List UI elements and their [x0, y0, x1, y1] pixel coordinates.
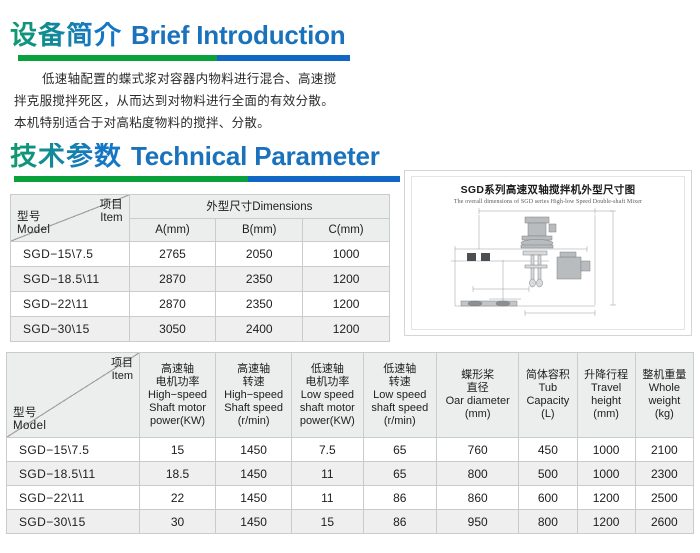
- cell-value-2: 1450: [216, 486, 292, 510]
- cell-value-4: 65: [363, 438, 437, 462]
- header-line-en1: Low speed: [294, 389, 360, 402]
- table-row: SGD−15\7.5276520501000: [11, 242, 390, 267]
- column-header-1: 高速轴电机功率High−speedShaft motorpower(KW): [140, 353, 216, 438]
- dimension-drawing-frame: SGD系列高速双轴搅拌机外型尺寸图 The overall dimensions…: [411, 176, 685, 330]
- column-header-8: 整机重量Wholeweight(kg): [635, 353, 693, 438]
- header-line-en1: Whole: [638, 382, 691, 395]
- divider-blue-segment: [217, 55, 350, 61]
- dimensions-table: 项目 Item 型号 Model 外型尺寸Dimensions A(mm) B(…: [10, 194, 390, 342]
- cell-value-1: 22: [140, 486, 216, 510]
- technical-parameters-table: 项目 Item 型号 Model 高速轴电机功率High−speedShaft …: [6, 352, 694, 534]
- cell-value-7: 1200: [577, 486, 635, 510]
- cell-value-8: 2500: [635, 486, 693, 510]
- header-line-cn2: 电机功率: [294, 376, 360, 389]
- dimensions-table-body: SGD−15\7.5276520501000SGD−18.5\112870235…: [11, 242, 390, 342]
- paragraph-line-3: 本机特别适合于对高粘度物料的搅拌、分散。: [14, 112, 344, 134]
- cell-model: SGD−22\11: [7, 486, 140, 510]
- cell-model: SGD−15\7.5: [7, 438, 140, 462]
- column-header-a: A(mm): [129, 218, 216, 242]
- parameters-table-body: SGD−15\7.51514507.56576045010002100SGD−1…: [7, 438, 694, 534]
- divider-green-segment: [18, 55, 217, 61]
- cell-a: 2870: [129, 292, 216, 317]
- corner-cell: 项目 Item 型号 Model: [7, 353, 140, 438]
- paragraph-line-1: 低速轴配置的蝶式浆对容器内物料进行混合、高速搅: [14, 68, 344, 90]
- cell-value-6: 500: [519, 462, 577, 486]
- column-header-2: 高速轴转速High−speedShaft speed(r/min): [216, 353, 292, 438]
- header-line-en3: (mm): [580, 408, 633, 421]
- header-line-cn2: 转速: [366, 376, 435, 389]
- cell-b: 2350: [216, 292, 303, 317]
- cell-value-5: 800: [437, 462, 519, 486]
- cell-value-4: 86: [363, 486, 437, 510]
- cell-value-8: 2100: [635, 438, 693, 462]
- header-line-en1: Travel: [580, 382, 633, 395]
- corner-item-label: 项目 Item: [100, 199, 123, 225]
- table-row: SGD−18.5\1118.51450116580050010002300: [7, 462, 694, 486]
- cell-model: SGD−30\15: [7, 510, 140, 534]
- cell-b: 2350: [216, 267, 303, 292]
- table-row: SGD−30\15305024001200: [11, 317, 390, 342]
- cell-value-5: 760: [437, 438, 519, 462]
- table-row: SGD−18.5\11287023501200: [11, 267, 390, 292]
- header-line-en1: Tub: [521, 382, 574, 395]
- cell-value-3: 7.5: [292, 438, 363, 462]
- corner-model-en: Model: [13, 420, 46, 432]
- cell-value-6: 800: [519, 510, 577, 534]
- table-row: SGD−15\7.51514507.56576045010002100: [7, 438, 694, 462]
- cell-value-6: 600: [519, 486, 577, 510]
- header-line-cn1: 简体容积: [521, 369, 574, 382]
- cell-value-3: 15: [292, 510, 363, 534]
- corner-model-cn: 型号: [17, 211, 41, 223]
- brief-introduction-paragraph: 低速轴配置的蝶式浆对容器内物料进行混合、高速搅 拌克服搅拌死区，从而达到对物料进…: [14, 68, 344, 134]
- header-line-en1: Low speed: [366, 389, 435, 402]
- corner-item-cn: 项目: [100, 199, 123, 211]
- header-line-cn1: 高速轴: [142, 363, 213, 376]
- header-line-en2: Shaft speed: [218, 402, 289, 415]
- column-header-6: 简体容积TubCapacity(L): [519, 353, 577, 438]
- column-header-c: C(mm): [303, 218, 390, 242]
- cell-value-4: 86: [363, 510, 437, 534]
- cell-model: SGD−18.5\11: [7, 462, 140, 486]
- technical-parameter-heading: 技术参数 Technical Parameter: [10, 143, 380, 170]
- header-line-en3: (r/min): [218, 415, 289, 428]
- cell-value-1: 18.5: [140, 462, 216, 486]
- table-row: SGD−22\11287023501200: [11, 292, 390, 317]
- cell-value-5: 950: [437, 510, 519, 534]
- cell-value-7: 1200: [577, 510, 635, 534]
- dimensions-table-head: 项目 Item 型号 Model 外型尺寸Dimensions A(mm) B(…: [11, 195, 390, 242]
- header-line-en3: power(KW): [142, 415, 213, 428]
- corner-model-label: 型号 Model: [13, 407, 46, 433]
- header-line-en2: shaft motor: [294, 402, 360, 415]
- header-line-cn1: 整机重量: [638, 369, 691, 382]
- header-line-cn2: 转速: [218, 376, 289, 389]
- cell-value-3: 11: [292, 486, 363, 510]
- product-spec-page: 设备简介 Brief Introduction 低速轴配置的蝶式浆对容器内物料进…: [0, 0, 700, 553]
- table-header-row: 项目 Item 型号 Model 高速轴电机功率High−speedShaft …: [7, 353, 694, 438]
- cell-c: 1200: [303, 292, 390, 317]
- corner-item-cn: 项目: [111, 357, 133, 369]
- brief-introduction-heading: 设备简介 Brief Introduction: [10, 22, 346, 49]
- table-row: SGD−22\11221450118686060012002500: [7, 486, 694, 510]
- header-line-cn1: 低速轴: [294, 363, 360, 376]
- cell-b: 2050: [216, 242, 303, 267]
- header-line-cn2: 直径: [439, 382, 516, 395]
- header-line-en3: (kg): [638, 408, 691, 421]
- technical-heading-en: Technical Parameter: [131, 143, 380, 169]
- cell-value-8: 2300: [635, 462, 693, 486]
- header-line-cn1: 低速轴: [366, 363, 435, 376]
- corner-model-en: Model: [17, 224, 50, 236]
- cell-c: 1200: [303, 267, 390, 292]
- cell-model: SGD−30\15: [11, 317, 130, 342]
- cell-value-8: 2600: [635, 510, 693, 534]
- cell-value-3: 11: [292, 462, 363, 486]
- column-header-b: B(mm): [216, 218, 303, 242]
- corner-item-en: Item: [100, 212, 122, 224]
- mixer-outline-drawing: [417, 205, 679, 317]
- corner-cell: 项目 Item 型号 Model: [11, 195, 130, 242]
- cell-b: 2400: [216, 317, 303, 342]
- header-line-en2: weight: [638, 395, 691, 408]
- dimensions-group-header: 外型尺寸Dimensions: [129, 195, 389, 219]
- parameters-table-head: 项目 Item 型号 Model 高速轴电机功率High−speedShaft …: [7, 353, 694, 438]
- cell-c: 1200: [303, 317, 390, 342]
- divider-blue-segment: [248, 176, 400, 182]
- drawing-title-cn: SGD系列高速双轴搅拌机外型尺寸图: [412, 182, 684, 197]
- corner-item-en: Item: [112, 370, 133, 382]
- header-line-en1: Oar diameter: [439, 395, 516, 408]
- header-line-cn1: 蝶形桨: [439, 369, 516, 382]
- header-line-en1: High−speed: [142, 389, 213, 402]
- cell-a: 3050: [129, 317, 216, 342]
- cell-model: SGD−15\7.5: [11, 242, 130, 267]
- cell-value-2: 1450: [216, 462, 292, 486]
- cell-a: 2765: [129, 242, 216, 267]
- header-line-cn2: 电机功率: [142, 376, 213, 389]
- header-line-cn1: 升降行程: [580, 369, 633, 382]
- divider-green-segment: [14, 176, 248, 182]
- cell-value-7: 1000: [577, 462, 635, 486]
- cell-value-5: 860: [437, 486, 519, 510]
- table-header-row: 项目 Item 型号 Model 外型尺寸Dimensions: [11, 195, 390, 219]
- cell-model: SGD−18.5\11: [11, 267, 130, 292]
- cell-value-1: 30: [140, 510, 216, 534]
- header-line-en2: (mm): [439, 408, 516, 421]
- header-line-en1: High−speed: [218, 389, 289, 402]
- table-row: SGD−30\15301450158695080012002600: [7, 510, 694, 534]
- header-line-en3: (L): [521, 408, 574, 421]
- brief-heading-divider: [18, 55, 350, 61]
- column-header-4: 低速轴转速Low speedshaft speed(r/min): [363, 353, 437, 438]
- column-header-3: 低速轴电机功率Low speedshaft motorpower(KW): [292, 353, 363, 438]
- brief-heading-en: Brief Introduction: [131, 22, 346, 48]
- technical-heading-divider: [14, 176, 400, 182]
- header-line-en3: (r/min): [366, 415, 435, 428]
- cell-c: 1000: [303, 242, 390, 267]
- cell-model: SGD−22\11: [11, 292, 130, 317]
- dimension-drawing-panel: SGD系列高速双轴搅拌机外型尺寸图 The overall dimensions…: [404, 170, 692, 336]
- header-line-en2: Capacity: [521, 395, 574, 408]
- cell-value-2: 1450: [216, 438, 292, 462]
- brief-heading-cn: 设备简介: [10, 22, 122, 49]
- column-header-5: 蝶形桨直径Oar diameter(mm): [437, 353, 519, 438]
- corner-model-label: 型号 Model: [17, 211, 50, 237]
- cell-value-2: 1450: [216, 510, 292, 534]
- cell-a: 2870: [129, 267, 216, 292]
- cell-value-1: 15: [140, 438, 216, 462]
- cell-value-4: 65: [363, 462, 437, 486]
- cell-value-6: 450: [519, 438, 577, 462]
- header-line-en3: power(KW): [294, 415, 360, 428]
- header-line-en2: shaft speed: [366, 402, 435, 415]
- header-line-cn1: 高速轴: [218, 363, 289, 376]
- header-line-en2: height: [580, 395, 633, 408]
- corner-model-cn: 型号: [13, 407, 37, 419]
- paragraph-line-2: 拌克服搅拌死区，从而达到对物料进行全面的有效分散。: [14, 90, 344, 112]
- header-line-en2: Shaft motor: [142, 402, 213, 415]
- column-header-7: 升降行程Travelheight(mm): [577, 353, 635, 438]
- corner-item-label: 项目 Item: [111, 357, 133, 383]
- technical-heading-cn: 技术参数: [10, 143, 122, 170]
- cell-value-7: 1000: [577, 438, 635, 462]
